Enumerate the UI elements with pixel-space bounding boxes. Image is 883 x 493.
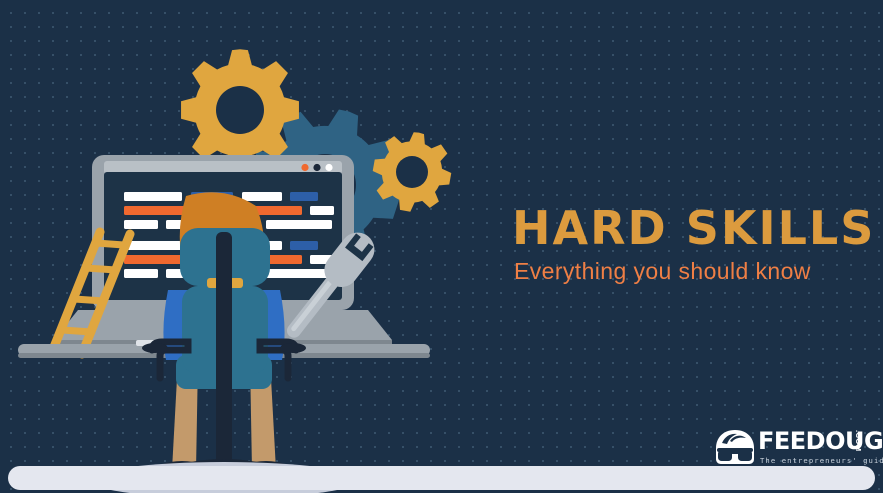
page-subtitle: Everything you should know: [514, 256, 852, 286]
code-bar: [124, 192, 182, 201]
browser-dot-dark: [313, 164, 320, 171]
code-bar: [124, 241, 182, 250]
code-bar: [242, 192, 282, 201]
code-bar: [124, 220, 158, 229]
poster-canvas: HARD SKILLS Everything you should know F…: [0, 0, 883, 493]
headline-block: HARD SKILLS Everything you should know: [512, 206, 852, 286]
browser-dot-white: [325, 164, 332, 171]
gear-large-orange: [181, 49, 299, 170]
armrest-pad-left: [142, 343, 168, 353]
feedough-logo[interactable]: FEEDOUGH .COM The entrepreneurs' guide: [714, 427, 872, 471]
page-title: HARD SKILLS: [512, 206, 852, 250]
logo-tagline: The entrepreneurs' guide: [760, 456, 883, 465]
code-bar: [266, 269, 332, 278]
logo-wordmark: FEEDOUGH: [758, 428, 883, 454]
chair-column: [216, 232, 232, 468]
logo-domain-suffix: .COM: [854, 430, 863, 452]
feedough-face-glasses-icon: [714, 429, 756, 465]
code-bar: [124, 269, 158, 278]
code-bar: [310, 206, 334, 215]
armrest-pad-right: [280, 343, 306, 353]
browser-dot-orange: [301, 164, 308, 171]
code-bar: [266, 220, 332, 229]
code-bar: [290, 241, 318, 250]
code-bar: [290, 192, 318, 201]
